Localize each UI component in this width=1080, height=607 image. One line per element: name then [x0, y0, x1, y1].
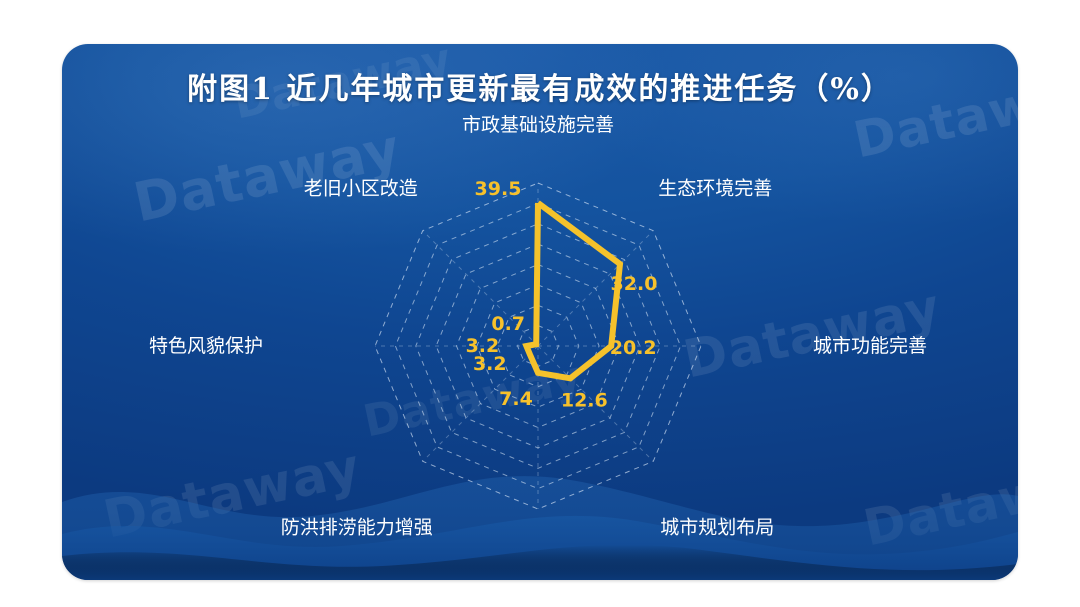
axis-label-0: 市政基础设施完善	[462, 114, 614, 136]
radar-chart: 市政基础设施完善生态环境完善城市功能完善城市规划布局居住社区完善防洪排涝能力增强…	[62, 44, 1018, 580]
axis-label-6: 特色风貌保护	[149, 335, 263, 357]
value-label-3: 12.6	[561, 389, 608, 411]
axis-label-2: 城市功能完善	[813, 335, 927, 357]
axis-label-7: 老旧小区改造	[304, 178, 418, 200]
radar-series-polygon	[526, 203, 620, 378]
value-label-4: 7.4	[499, 388, 533, 410]
value-label-7: 0.7	[491, 313, 525, 335]
value-label-6: 3.2	[466, 335, 500, 357]
axis-label-3: 城市规划布局	[660, 516, 774, 538]
value-label-2: 20.2	[610, 337, 657, 359]
value-label-1: 32.0	[611, 273, 658, 295]
value-label-0: 39.5	[475, 178, 522, 200]
axis-label-5: 防洪排涝能力增强	[281, 516, 433, 538]
axis-label-1: 生态环境完善	[658, 178, 772, 200]
chart-card: DatawayDatawayDatawayDatawayDatawayDataw…	[62, 44, 1018, 580]
slide-canvas: DatawayDatawayDatawayDatawayDatawayDataw…	[0, 0, 1080, 607]
